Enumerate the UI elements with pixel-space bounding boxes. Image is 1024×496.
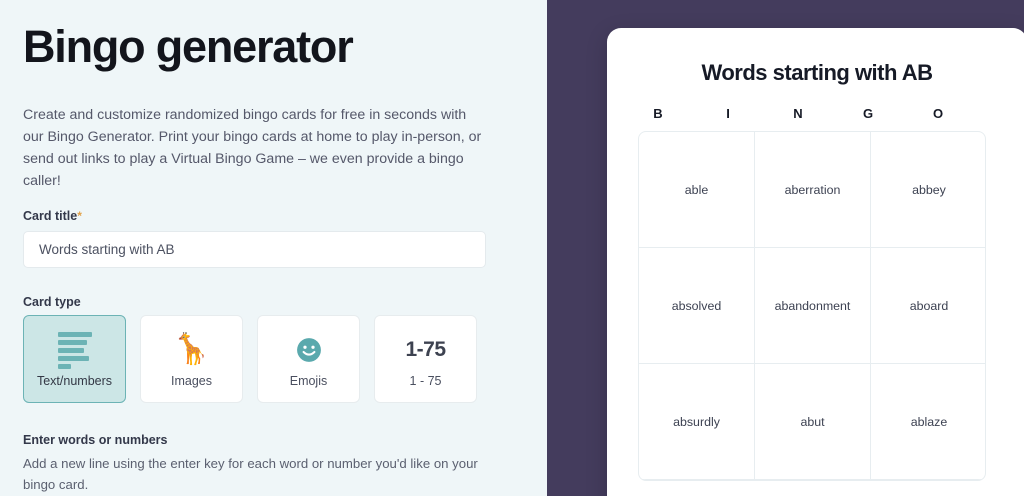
enter-words-label: Enter words or numbers (23, 433, 167, 447)
giraffe-icon: 🦒 (173, 330, 210, 370)
bingo-column-headers: B I N G O (623, 106, 973, 121)
form-panel: Bingo generator Create and customize ran… (0, 0, 547, 496)
card-type-label-number-range: 1 - 75 (410, 374, 442, 388)
bingo-cell[interactable]: abbey (871, 132, 986, 248)
text-lines-icon (58, 330, 92, 370)
bingo-cell[interactable]: able (639, 132, 755, 248)
bingo-cell[interactable]: abut (755, 364, 871, 480)
bingo-column-header-n: N (763, 106, 833, 121)
card-type-label-images: Images (171, 374, 212, 388)
card-type-options: Text/numbers 🦒 Images Emojis (23, 315, 477, 403)
number-range-value: 1-75 (405, 338, 445, 362)
required-asterisk-icon: * (77, 209, 82, 223)
number-range-icon: 1-75 (405, 330, 445, 370)
bingo-cell[interactable]: absurdly (639, 364, 755, 480)
card-title-input[interactable] (23, 231, 486, 268)
bingo-column-header-g: G (833, 106, 903, 121)
bingo-cell[interactable]: aberration (755, 132, 871, 248)
card-type-label-emojis: Emojis (290, 374, 328, 388)
bingo-cell[interactable]: abandonment (755, 248, 871, 364)
page-description: Create and customize randomized bingo ca… (23, 104, 485, 192)
bingo-grid: able aberration abbey absolved abandonme… (638, 131, 986, 481)
card-type-images[interactable]: 🦒 Images (140, 315, 243, 403)
giraffe-glyph: 🦒 (173, 333, 210, 367)
card-type-label: Card type (23, 295, 81, 309)
card-title-label: Card title* (23, 209, 82, 223)
bingo-cell[interactable]: aboard (871, 248, 986, 364)
bingo-generator-page: Bingo generator Create and customize ran… (0, 0, 1024, 496)
preview-panel: Words starting with AB B I N G O able ab… (547, 0, 1024, 496)
card-type-number-range[interactable]: 1-75 1 - 75 (374, 315, 477, 403)
smiley-face-icon (296, 330, 322, 370)
bingo-column-header-o: O (903, 106, 973, 121)
enter-words-help-text: Add a new line using the enter key for e… (23, 453, 485, 495)
bingo-column-header-b: B (623, 106, 693, 121)
bingo-cell[interactable]: absolved (639, 248, 755, 364)
bingo-card-title: Words starting with AB (607, 60, 1024, 86)
card-type-emojis[interactable]: Emojis (257, 315, 360, 403)
card-type-label-text-numbers: Text/numbers (37, 374, 112, 388)
card-title-label-text: Card title (23, 209, 77, 223)
bingo-column-header-i: I (693, 106, 763, 121)
card-type-text-numbers[interactable]: Text/numbers (23, 315, 126, 403)
page-title: Bingo generator (23, 22, 353, 72)
bingo-card-preview: Words starting with AB B I N G O able ab… (607, 28, 1024, 496)
bingo-cell[interactable]: ablaze (871, 364, 986, 480)
